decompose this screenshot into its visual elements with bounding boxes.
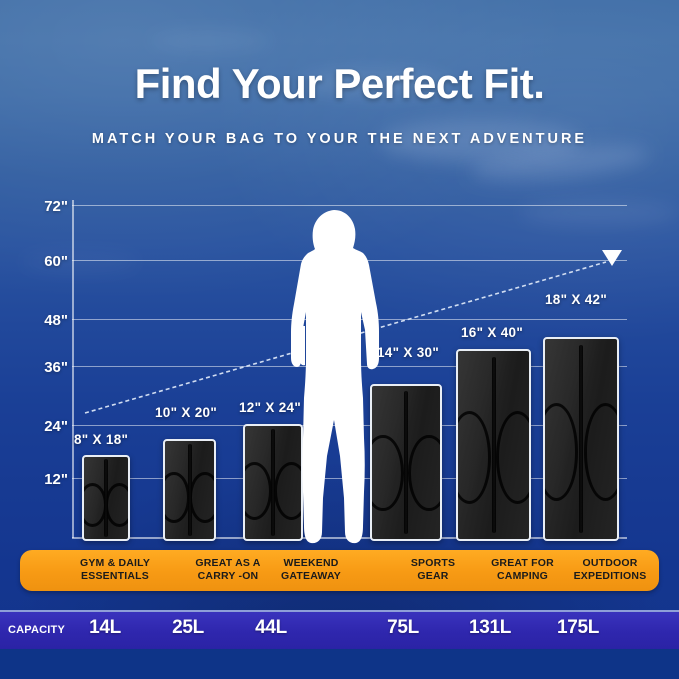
bag-bar-6[interactable] — [543, 337, 619, 541]
y-axis-line — [72, 200, 74, 538]
y-tick-label: 12" — [6, 471, 68, 488]
bag-bar-1[interactable] — [82, 455, 130, 541]
bag-arc-right — [105, 483, 130, 527]
gridline-72 — [72, 205, 627, 206]
bottom-fill — [0, 649, 679, 679]
y-tick-label: 24" — [6, 418, 68, 435]
use-case-band: GYM & DAILY ESSENTIALS GREAT AS A CARRY … — [20, 550, 659, 591]
y-tick-label: 48" — [6, 312, 68, 329]
y-tick-label: 72" — [6, 198, 68, 215]
infographic-canvas: Find Your Perfect Fit. MATCH YOUR BAG TO… — [0, 0, 679, 679]
capacity-band: CAPACITY 14L 25L 44L 75L 131L 175L — [0, 610, 679, 653]
use-case-1: GYM & DAILY ESSENTIALS — [50, 557, 180, 583]
bag-arc-right — [189, 472, 216, 523]
capacity-value-3: 44L — [228, 617, 314, 639]
bag-arc-right — [496, 411, 531, 503]
capacity-value-5: 131L — [445, 617, 535, 639]
bag-size-label-2: 10" X 20" — [155, 405, 217, 420]
capacity-value-4: 75L — [360, 617, 446, 639]
y-tick-label: 60" — [6, 253, 68, 270]
use-case-3: WEEKEND GATEAWAY — [246, 557, 376, 583]
bag-strap — [188, 444, 192, 536]
capacity-value-2: 25L — [145, 617, 231, 639]
bag-strap — [104, 459, 108, 536]
bag-bar-5[interactable] — [456, 349, 531, 541]
use-case-6: OUTDOOR EXPEDITIONS — [540, 557, 679, 583]
bag-strap — [492, 357, 496, 534]
capacity-value-1: 14L — [62, 617, 148, 639]
bag-size-label-1: 8" X 18" — [74, 432, 128, 447]
bag-strap — [579, 345, 583, 533]
person-silhouette-icon — [282, 208, 397, 546]
bag-size-label-6: 18" X 42" — [545, 292, 607, 307]
bag-strap — [404, 391, 408, 535]
bag-size-label-5: 16" X 40" — [461, 325, 523, 340]
capacity-value-6: 175L — [533, 617, 623, 639]
y-tick-label: 36" — [6, 359, 68, 376]
bag-arc-right — [408, 435, 442, 511]
bag-bar-2[interactable] — [163, 439, 216, 541]
bag-strap — [271, 429, 275, 535]
